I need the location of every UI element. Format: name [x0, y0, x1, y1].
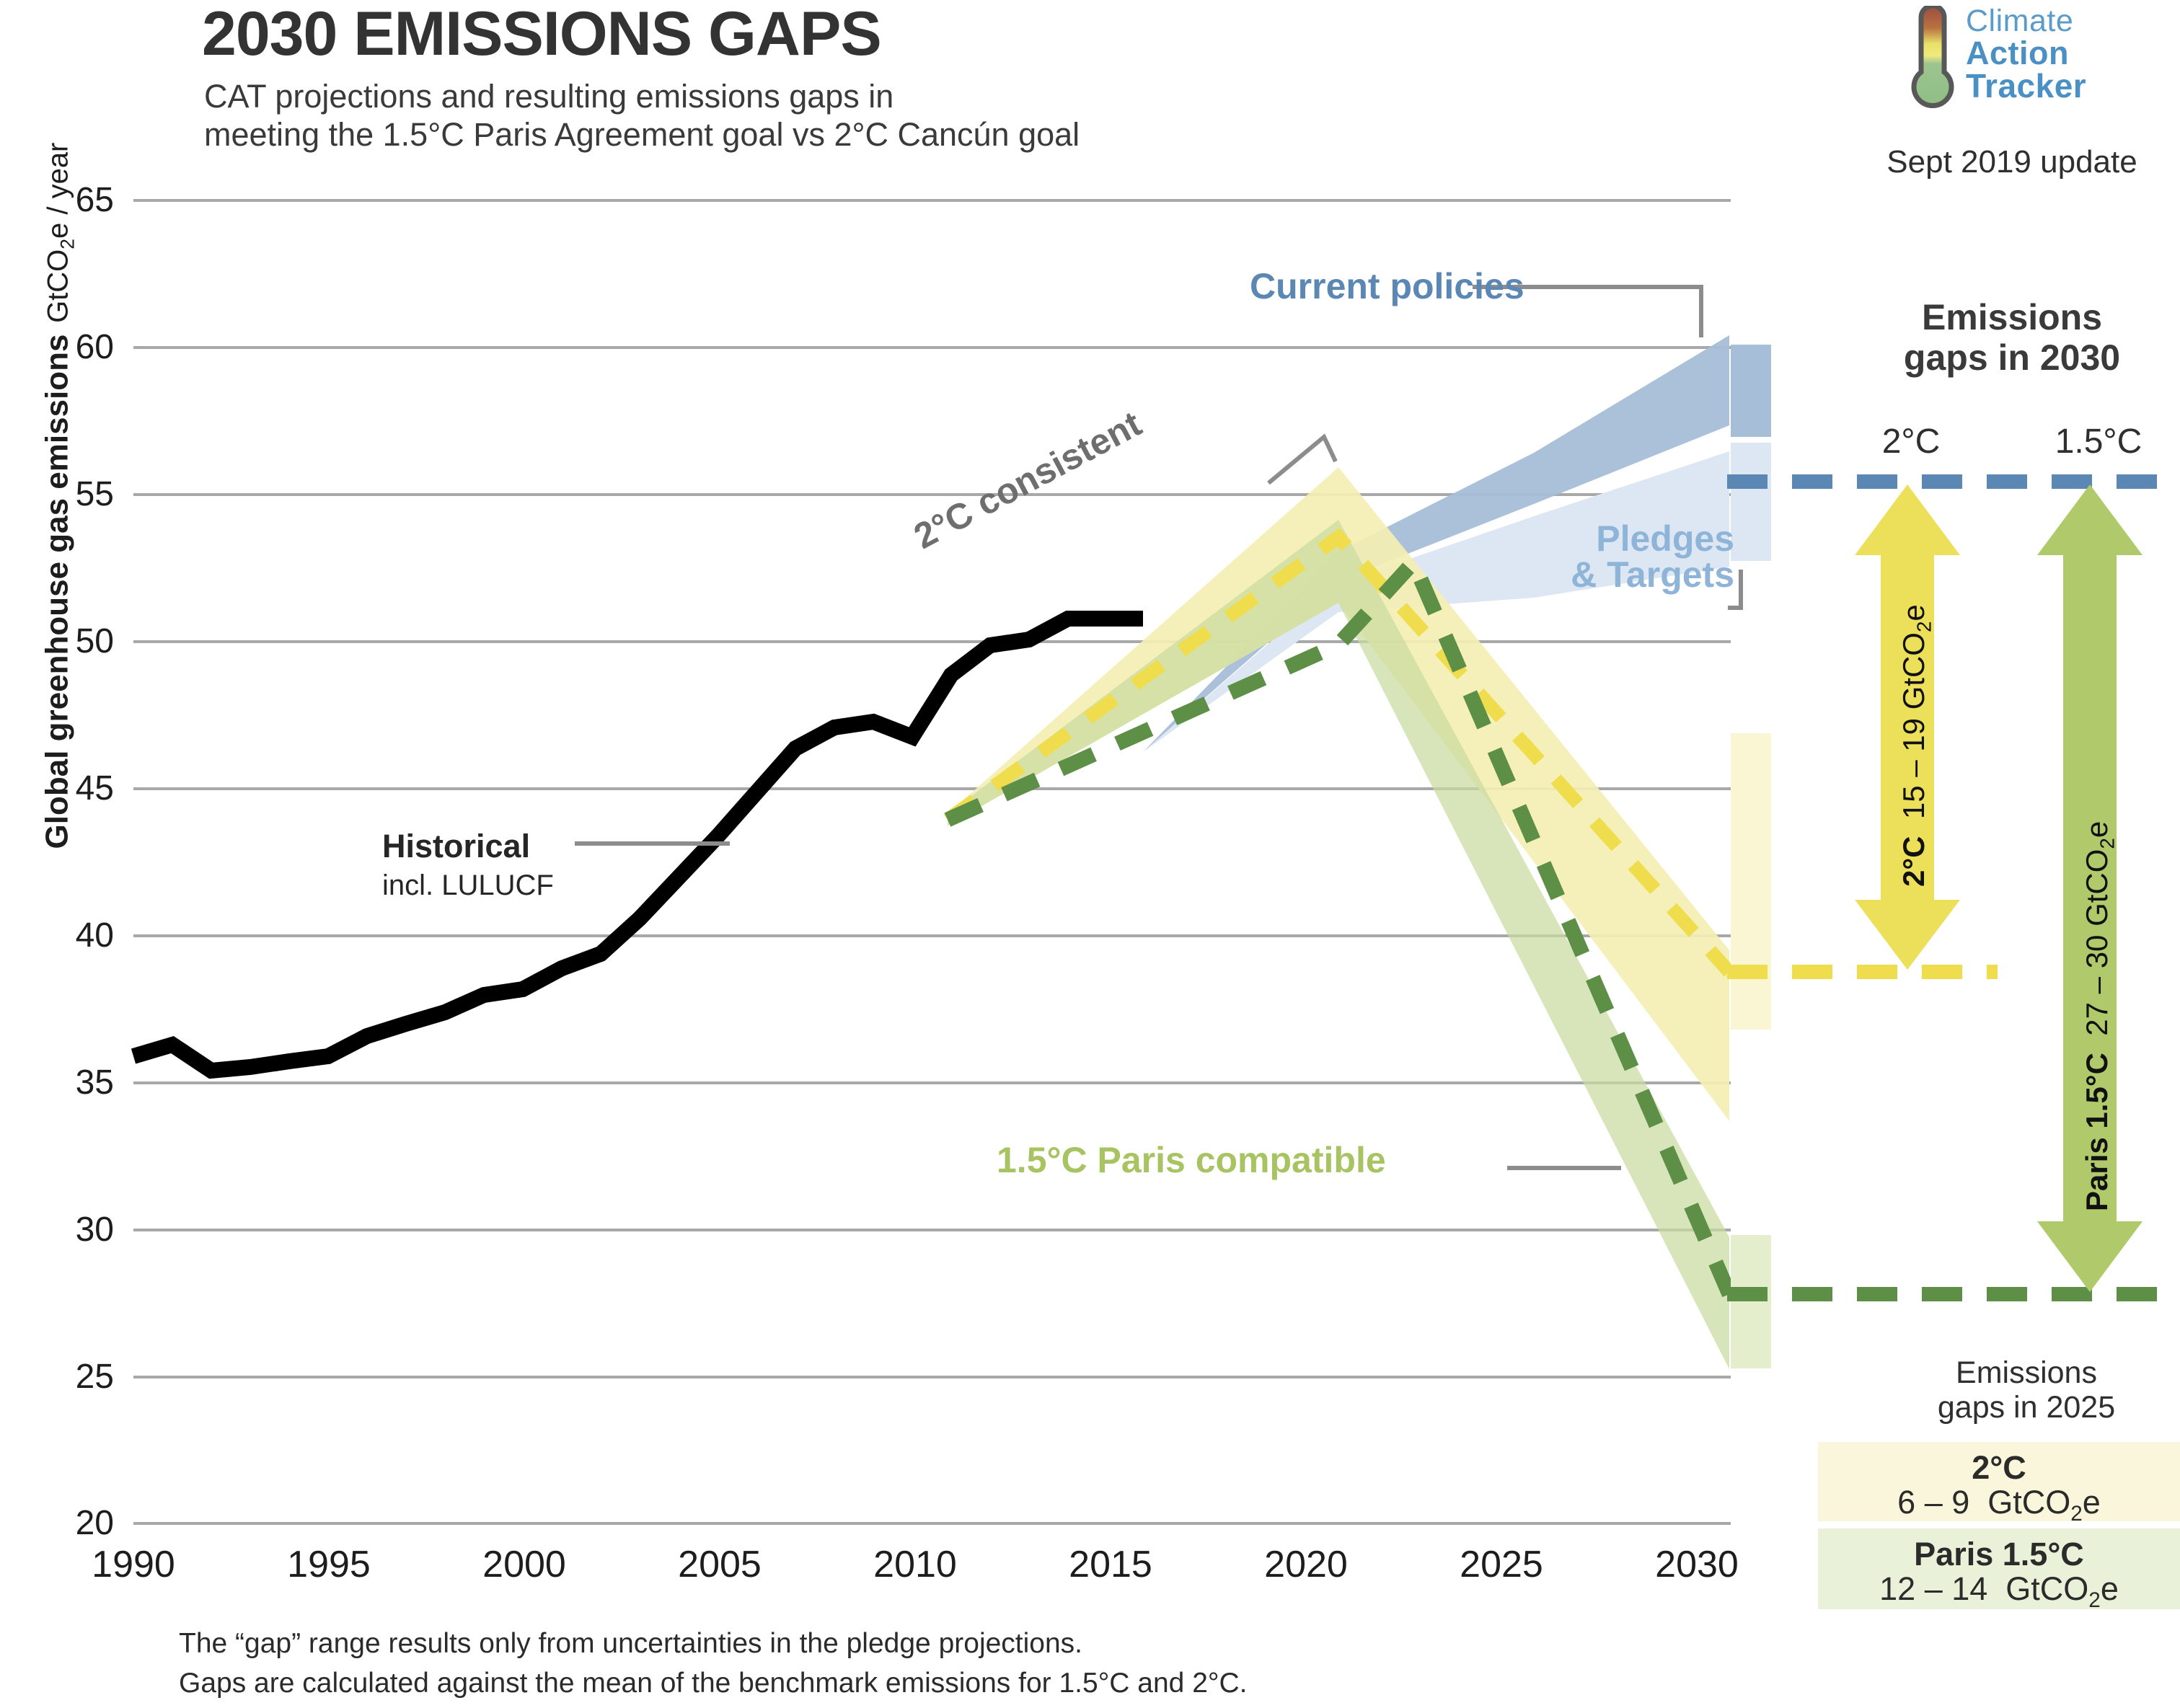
paris-15c-band [948, 520, 1729, 1369]
update-date: Sept 2019 update [1846, 144, 2178, 180]
footnote: The “gap” range results only from uncert… [179, 1624, 1248, 1704]
paris-15c-line [948, 562, 1729, 1294]
gap-arrow-15c-label-bold: Paris 1.5°C [2080, 1053, 2114, 1211]
gap-box-15c-2025: Paris 1.5°C 12 – 14 GtCO2e [1818, 1528, 2180, 1609]
gaps-2025-title: Emissions gaps in 2025 [1875, 1355, 2178, 1425]
thermometer-icon [1899, 6, 1964, 114]
range-bar-current-policies [1731, 345, 1771, 437]
logo-line-3: Tracker [1966, 69, 2086, 102]
y-tick-50: 50 [20, 621, 114, 661]
gap-arrow-15c-label: Paris 1.5°C 27 – 30 GtCO2e [2080, 821, 2119, 1211]
y-tick-30: 30 [20, 1210, 114, 1249]
gaps-2030-title: Emissions gaps in 2030 [1853, 297, 2171, 378]
gap-arrow-2c-label: 2°C 15 – 19 GtCO2e [1897, 604, 1936, 887]
page-subtitle: CAT projections and resulting emissions … [204, 78, 1080, 154]
x-tick-2015: 2015 [1017, 1543, 1204, 1586]
x-tick-1995: 1995 [235, 1543, 423, 1586]
gaps-2030-col-15c: 1.5°C [2012, 422, 2180, 461]
range-bar-pledges [1731, 443, 1771, 561]
gap-box-15c-value: 12 – 14 GtCO2e [1818, 1572, 2180, 1611]
gridlines [133, 200, 1731, 1523]
x-tick-2005: 2005 [626, 1543, 813, 1586]
x-tick-2000: 2000 [431, 1543, 618, 1586]
gaps-2030-col-2c: 2°C [1832, 422, 1990, 461]
x-tick-2020: 2020 [1212, 1543, 1400, 1586]
climate-action-tracker-logo: Climate Action Tracker [1899, 6, 2137, 114]
gap-box-2c-title: 2°C [1818, 1451, 2180, 1485]
range-bar-two-c [1731, 733, 1771, 1030]
gap-box-15c-title: Paris 1.5°C [1818, 1537, 2180, 1572]
y-tick-55: 55 [20, 474, 114, 514]
y-tick-65: 65 [20, 180, 114, 220]
label-pledges-targets: Pledges & Targets [1496, 521, 1734, 593]
x-tick-2010: 2010 [821, 1543, 1009, 1586]
gap-box-2c-value: 6 – 9 GtCO2e [1818, 1485, 2180, 1525]
range-bar-paris [1731, 1235, 1771, 1368]
label-historical-sub: incl. LULUCF [382, 870, 554, 902]
pledges-targets-band [1143, 451, 1729, 752]
y-tick-60: 60 [20, 327, 114, 367]
logo-line-2: Action [1966, 37, 2086, 69]
historical-line [133, 619, 1143, 1071]
label-paris-compatible: 1.5°C Paris compatible [997, 1139, 1386, 1181]
logo-line-1: Climate [1966, 6, 2086, 37]
page-title: 2030 EMISSIONS GAPS [202, 0, 881, 70]
y-axis-title-units: GtCO2e / year [43, 143, 74, 331]
y-axis-title: Global greenhouse gas emissions GtCO2e /… [40, 200, 79, 849]
x-tick-2030: 2030 [1603, 1543, 1791, 1586]
label-historical: Historical [382, 828, 530, 865]
two-c-consistent-line [948, 537, 1729, 972]
label-current-policies: Current policies [1250, 265, 1524, 307]
gap-arrow-2c-label-value: 15 – 19 GtCO2e [1897, 604, 1930, 828]
y-tick-40: 40 [20, 916, 114, 955]
y-tick-35: 35 [20, 1063, 114, 1102]
y-tick-45: 45 [20, 769, 114, 808]
y-tick-20: 20 [20, 1503, 114, 1543]
label-two-c-consistent: 2°C consistent [907, 402, 1148, 557]
x-tick-2025: 2025 [1408, 1543, 1595, 1586]
gap-arrow-15c-label-value: 27 – 30 GtCO2e [2080, 821, 2114, 1045]
callout-lines [575, 287, 1741, 1168]
y-tick-25: 25 [20, 1357, 114, 1397]
x-tick-1990: 1990 [40, 1543, 227, 1586]
gap-box-2c-2025: 2°C 6 – 9 GtCO2e [1818, 1442, 2180, 1521]
gap-arrow-2c-label-bold: 2°C [1897, 836, 1930, 888]
